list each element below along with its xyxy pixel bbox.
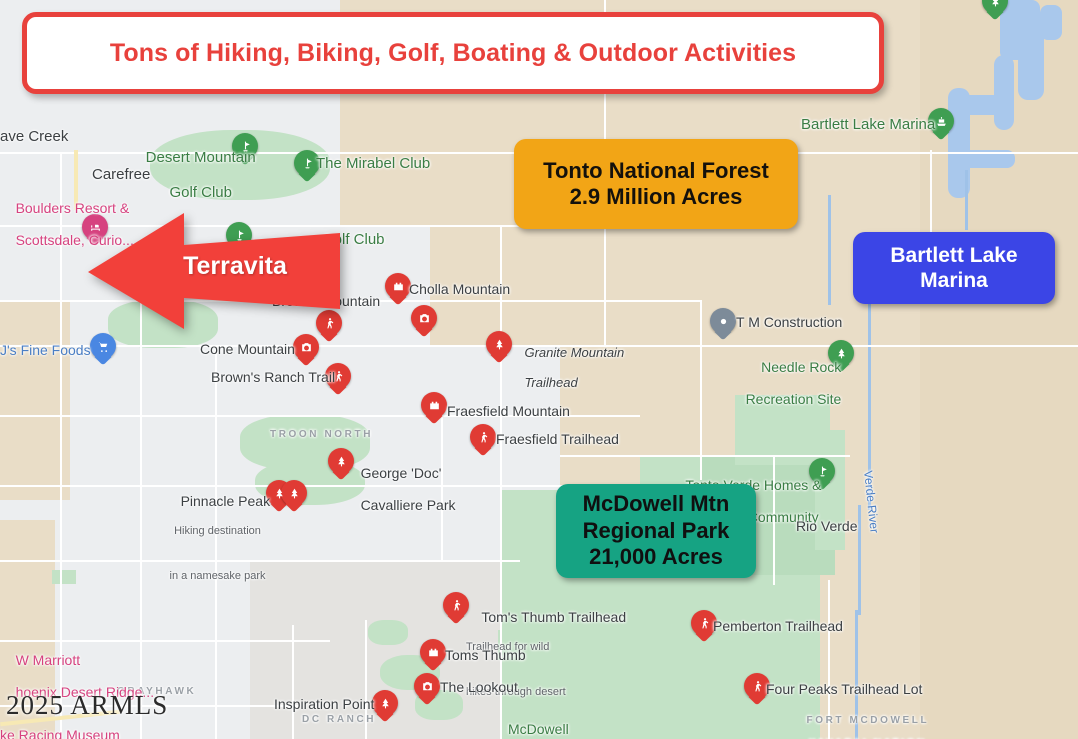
label-fraesfield-mountain: Fraesfield Mountain (447, 403, 570, 419)
label-line-1: Needle Rock (761, 359, 841, 375)
label-inspiration-point: Inspiration Point (274, 696, 374, 712)
label-sub-1: Hiking destination (165, 525, 270, 538)
map-pin-bartlett-lake-north[interactable] (982, 0, 1008, 22)
label-pemberton-trailhead: Pemberton Trailhead (713, 618, 843, 634)
water-bartlett-lake-c (994, 55, 1014, 130)
river-canal (965, 170, 968, 230)
label-cave-creek: ave Creek (0, 128, 68, 145)
park-small-a (52, 570, 76, 584)
callout-line-3: 21,000 Acres (589, 544, 723, 569)
label-line-1: FORT MCDOWELL (807, 715, 930, 726)
water-bartlett-lake-g (1040, 5, 1062, 40)
label-line-1: W Marriott (16, 652, 81, 668)
map-pin-fraesfield-trailhead[interactable] (470, 424, 496, 458)
callout-bartlett-lake-marina[interactable]: Bartlett Lake Marina (853, 232, 1055, 304)
river-tributary (828, 195, 831, 305)
callout-line-1: Bartlett Lake (890, 244, 1017, 267)
label-troon-north: TROON NORTH (270, 429, 373, 441)
road-v8 (700, 300, 702, 480)
map-pin-granite-mountain-trailhead[interactable] (486, 331, 512, 365)
map-pin-the-lookout[interactable] (414, 673, 440, 707)
title-banner-text: Tons of Hiking, Biking, Golf, Boating & … (110, 39, 796, 68)
map-pin-cholla-viewpoint[interactable] (411, 305, 437, 339)
callout-line-1: McDowell Mtn (583, 491, 730, 516)
label-rio-verde: Rio Verde (796, 518, 857, 534)
park-small-b (368, 620, 408, 645)
callout-line-2: Regional Park (583, 518, 730, 543)
callout-line-2: 2.9 Million Acres (570, 184, 743, 209)
callout-text: Bartlett Lake Marina (890, 243, 1017, 293)
armls-watermark: 2025 ARMLS (6, 690, 168, 721)
label-ajs-fine-foods: J's Fine Foods (0, 342, 91, 358)
label-needle-rock: Needle Rock Recreation Site (730, 343, 841, 423)
label-line-1: George 'Doc' (361, 465, 442, 481)
road-h10 (560, 455, 850, 457)
callout-line-1: Tonto National Forest (543, 158, 769, 183)
label-tm-construction: T M Construction (736, 314, 842, 330)
label-four-peaks-trailhead-lot: Four Peaks Trailhead Lot (766, 681, 922, 697)
callout-line-2: Marina (920, 269, 988, 292)
label-dc-ranch: DC RANCH (302, 714, 376, 726)
title-banner: Tons of Hiking, Biking, Golf, Boating & … (22, 12, 884, 94)
callout-text: McDowell Mtn Regional Park 21,000 Acres (583, 491, 730, 570)
label-line-1: Tom's Thumb Trailhead (481, 609, 626, 625)
map-pin-fraesfield-mountain[interactable] (421, 392, 447, 426)
label-bartlett-lake-marina: Bartlett Lake Marina (801, 116, 935, 133)
label-fort-mcdowell-reservation: FORT MCDOWELL YAVAPAI NATION RESERVATION (785, 703, 929, 739)
callout-tonto-national-forest[interactable]: Tonto National Forest 2.9 Million Acres (514, 139, 798, 229)
label-fraesfield-trailhead: Fraesfield Trailhead (496, 431, 619, 447)
map-canvas[interactable]: ave Creek Carefree Desert Mountain Golf … (0, 0, 1078, 739)
map-pin-cone-mountain[interactable] (293, 334, 319, 368)
map-pin-tm-construction[interactable] (710, 308, 736, 342)
label-granite-mountain-trailhead: Granite Mountain Trailhead (510, 331, 624, 406)
map-pin-cholla-mountain[interactable] (385, 273, 411, 307)
terravita-arrow-label: Terravita (150, 252, 320, 281)
label-pinnacle-peak: Pinnacle Peak Hiking destination in a na… (165, 477, 270, 615)
label-line-2: Trailhead (524, 375, 577, 390)
label-browns-ranch-trail: Brown's Ranch Trail (211, 369, 335, 385)
label-line-2: Golf Club (169, 184, 232, 201)
label-racing-museum: ke Racing Museum (0, 727, 120, 739)
label-the-lookout: The Lookout (440, 679, 518, 695)
label-line-2: Recreation Site (746, 391, 842, 407)
label-line-2: Cavalliere Park (361, 497, 456, 513)
label-toms-thumb: Toms Thumb (445, 647, 526, 663)
label-line-1: Granite Mountain (524, 345, 624, 360)
river-verde-mid (858, 505, 861, 615)
label-line-1: Pinnacle Peak (181, 493, 271, 509)
callout-text: Tonto National Forest 2.9 Million Acres (543, 158, 769, 211)
label-mirabel-club: The Mirabel Club (316, 155, 430, 172)
label-sub-2: in a namesake park (165, 570, 270, 583)
label-george-doc-cavalliere-park: George 'Doc' Cavalliere Park (345, 449, 456, 529)
callout-mcdowell-mtn-regional-park[interactable]: McDowell Mtn Regional Park 21,000 Acres (556, 484, 756, 578)
map-pin-toms-thumb[interactable] (420, 639, 446, 673)
label-cholla-mountain: Cholla Mountain (409, 281, 510, 297)
label-cone-mountain: Cone Mountain (200, 341, 295, 357)
map-pin-ajs-fine-foods[interactable] (90, 333, 116, 367)
road-v4 (292, 625, 294, 739)
label-mcdowell-mountain: McDowell (508, 721, 569, 737)
